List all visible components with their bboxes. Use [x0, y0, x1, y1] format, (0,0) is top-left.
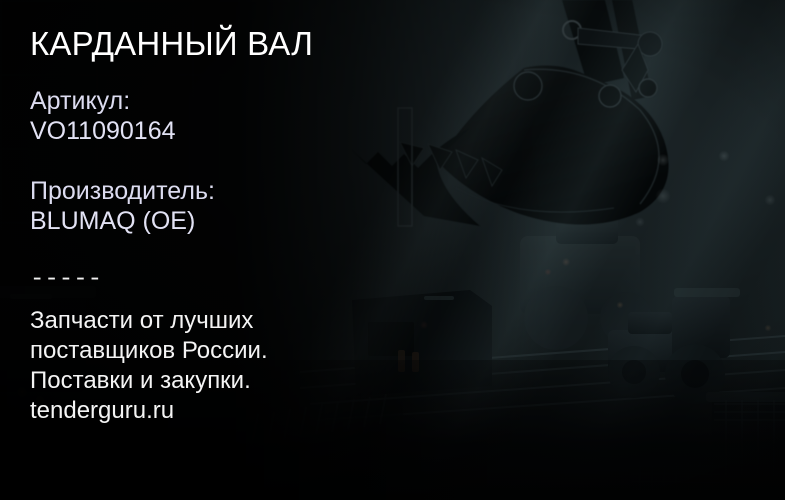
page-title: КАРДАННЫЙ ВАЛ — [30, 27, 313, 60]
manufacturer-block: Производитель: BLUMAQ (OE) — [30, 176, 215, 236]
divider-dashes: ----- — [30, 268, 102, 292]
promo-line-3: Поставки и закупки. — [30, 366, 268, 396]
manufacturer-label: Производитель: — [30, 176, 215, 206]
article-label: Артикул: — [30, 86, 176, 116]
promo-block: Запчасти от лучших поставщиков России. П… — [30, 306, 268, 426]
promo-line-1: Запчасти от лучших — [30, 306, 268, 336]
promo-line-2: поставщиков России. — [30, 336, 268, 366]
product-banner: КАРДАННЫЙ ВАЛ Артикул: VO11090164 Произв… — [0, 0, 785, 500]
manufacturer-value: BLUMAQ (OE) — [30, 206, 215, 236]
promo-site-url: tenderguru.ru — [30, 396, 268, 426]
article-block: Артикул: VO11090164 — [30, 86, 176, 146]
banner-content: КАРДАННЫЙ ВАЛ Артикул: VO11090164 Произв… — [0, 0, 785, 500]
article-value: VO11090164 — [30, 116, 176, 146]
